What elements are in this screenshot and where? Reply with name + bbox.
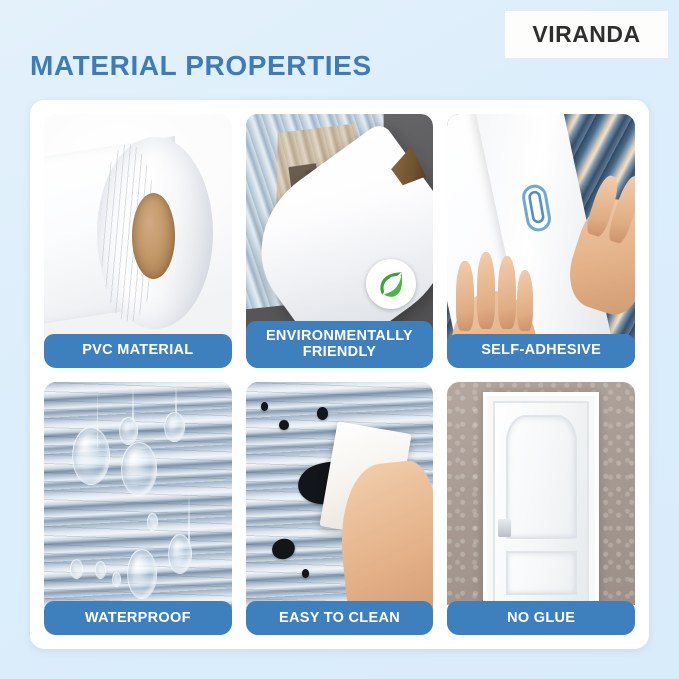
feature-tile-environmentally-friendly[interactable]: ENVIRONMENTALLY FRIENDLY — [246, 114, 434, 368]
feature-label-line-1: ENVIRONMENTALLY — [266, 328, 413, 344]
feature-tile-self-adhesive[interactable]: SELF-ADHESIVE — [447, 114, 635, 368]
features-card: PVC MATERIAL — [30, 100, 649, 649]
brand-logo: VIRANDA — [505, 11, 668, 58]
feature-label-pvc-material: PVC MATERIAL — [44, 334, 232, 368]
feature-label-environmentally-friendly: ENVIRONMENTALLY FRIENDLY — [246, 321, 434, 367]
feature-tile-easy-to-clean[interactable]: EASY TO CLEAN — [246, 382, 434, 636]
features-grid: PVC MATERIAL — [44, 114, 635, 635]
feature-label-self-adhesive: SELF-ADHESIVE — [447, 334, 635, 368]
no-glue-door-image — [447, 382, 635, 636]
self-adhesive-peel-image — [447, 114, 635, 368]
feature-label-no-glue: NO GLUE — [447, 601, 635, 635]
feature-label-waterproof: WATERPROOF — [44, 601, 232, 635]
feature-label-easy-to-clean: EASY TO CLEAN — [246, 601, 434, 635]
easy-to-clean-image — [246, 382, 434, 636]
feature-label-line-2: FRIENDLY — [303, 344, 377, 360]
brand-logo-text: VIRANDA — [532, 21, 640, 48]
pvc-roll-image — [44, 114, 232, 368]
feature-tile-no-glue[interactable]: NO GLUE — [447, 382, 635, 636]
page-title: MATERIAL PROPERTIES — [30, 50, 372, 82]
waterproof-droplets-image — [44, 382, 232, 636]
feature-tile-pvc-material[interactable]: PVC MATERIAL — [44, 114, 232, 368]
feature-tile-waterproof[interactable]: WATERPROOF — [44, 382, 232, 636]
page-header: MATERIAL PROPERTIES VIRANDA — [0, 0, 679, 100]
